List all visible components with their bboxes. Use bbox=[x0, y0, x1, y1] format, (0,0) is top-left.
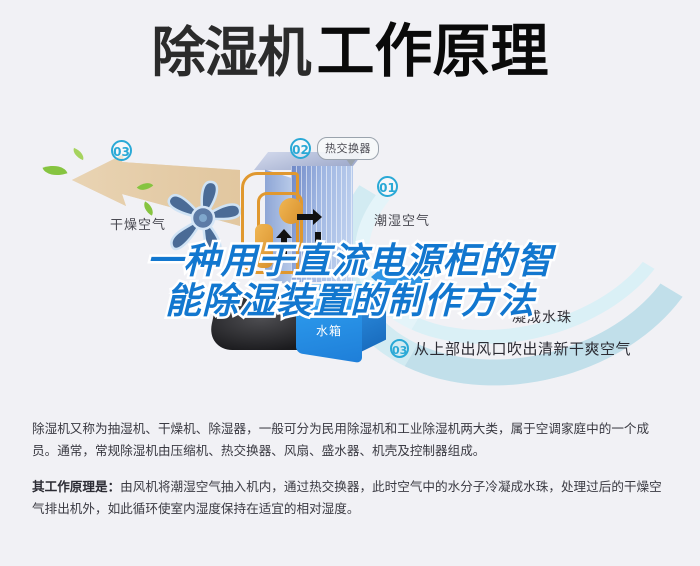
page-title-part-b: 工作原理 bbox=[316, 17, 548, 85]
body-paragraph-1: 除湿机又称为抽湿机、干燥机、除湿器，一般可分为民用除湿机和工业除湿机两大类，属于… bbox=[32, 418, 672, 462]
overlay-title-line-2: 能除湿装置的制作方法 bbox=[0, 282, 700, 322]
step3-text: 从上部出风口吹出清新干爽空气 bbox=[414, 338, 631, 359]
step-label-humid-air: 潮湿空气 bbox=[374, 210, 430, 229]
page-root: 除湿机工作原理 bbox=[0, 0, 700, 566]
step-label-dry-air: 干燥空气 bbox=[110, 214, 166, 233]
heat-exchanger-callout: 热交换器 bbox=[317, 137, 379, 160]
article-body: 除湿机又称为抽湿机、干燥机、除湿器，一般可分为民用除湿机和工业除湿机两大类，属于… bbox=[32, 418, 672, 520]
body-paragraph-2: 其工作原理是：由风机将潮湿空气抽入机内，通过热交换器，此时空气中的水分子冷凝成水… bbox=[32, 476, 672, 520]
water-tank-label: 水箱 bbox=[316, 322, 342, 339]
step3-caption: 03 从上部出风口吹出清新干爽空气 bbox=[390, 338, 631, 359]
step-badge-02: 02 bbox=[290, 138, 311, 159]
overlay-article-title: 一种用于直流电源柜的智 能除湿装置的制作方法 bbox=[0, 242, 700, 322]
body-paragraph-2-rest: 由风机将潮湿空气抽入机内，通过热交换器，此时空气中的水分子冷凝成水珠，处理过后的… bbox=[32, 479, 662, 516]
overlay-title-line-1: 一种用于直流电源柜的智 bbox=[0, 242, 700, 282]
body-paragraph-2-lead: 其工作原理是： bbox=[32, 479, 120, 494]
step3-badge: 03 bbox=[390, 339, 409, 358]
page-title-part-a: 除湿机 bbox=[151, 21, 310, 84]
step-badge-01: 01 bbox=[377, 176, 398, 197]
page-title: 除湿机工作原理 bbox=[0, 22, 700, 80]
step-badge-03: 03 bbox=[111, 140, 132, 161]
